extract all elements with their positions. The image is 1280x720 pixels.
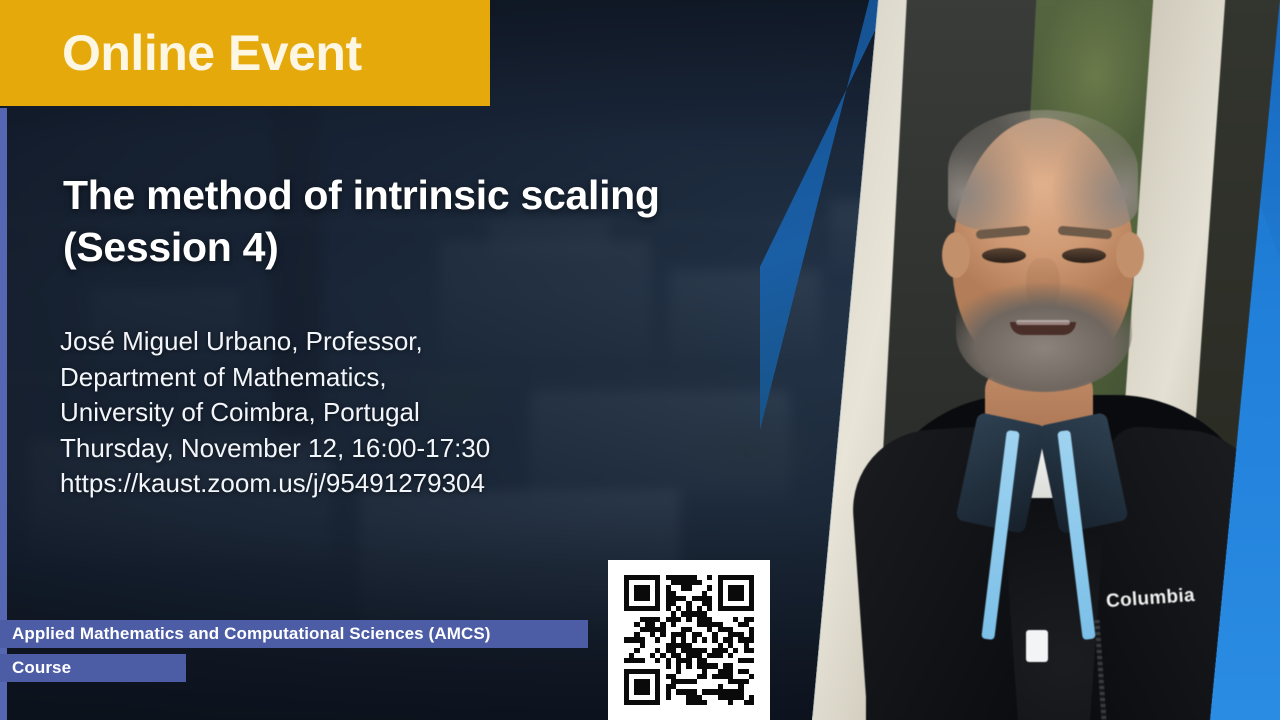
qr-code-panel[interactable] [608,560,770,720]
speaker-affiliation-line: University of Coimbra, Portugal [60,395,700,431]
page-title: The method of intrinsic scaling (Session… [63,170,783,273]
tag-department-label: Applied Mathematics and Computational Sc… [12,624,491,644]
online-event-badge-label: Online Event [0,28,362,78]
event-zoom-link[interactable]: https://kaust.zoom.us/j/95491279304 [60,466,700,502]
online-event-badge: Online Event [0,0,490,106]
qr-code-image [624,575,754,705]
tag-department: Applied Mathematics and Computational Sc… [0,620,588,648]
speaker-department-line: Department of Mathematics, [60,360,700,396]
event-datetime: Thursday, November 12, 16:00-17:30 [60,431,700,467]
tag-event-type: Course [0,654,186,682]
event-details: José Miguel Urbano, Professor, Departmen… [60,324,700,502]
event-card: Columbia Online Event The method of intr… [0,0,1280,720]
speaker-name-line: José Miguel Urbano, Professor, [60,324,700,360]
tag-event-type-label: Course [12,658,71,678]
